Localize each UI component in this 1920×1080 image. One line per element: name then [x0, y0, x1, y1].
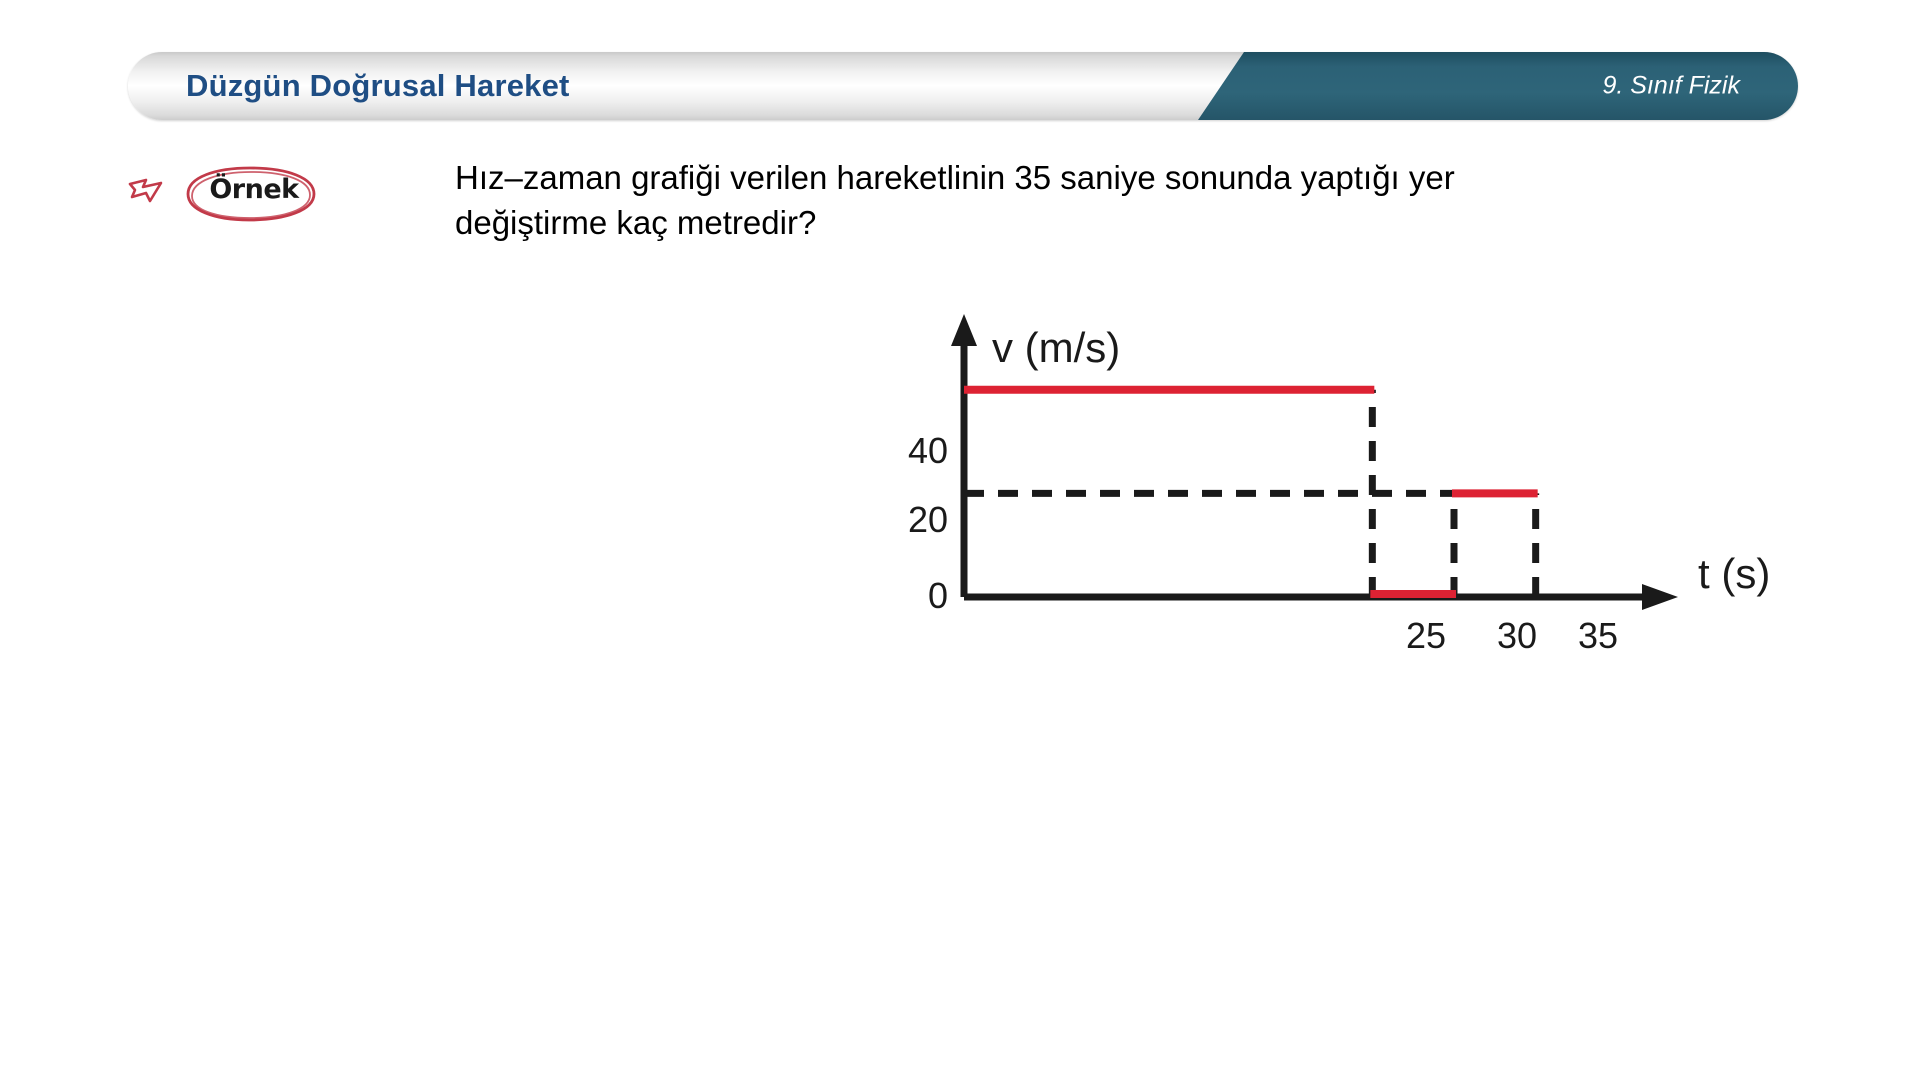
- y-tick-labels: 40 20 0: [908, 430, 948, 616]
- hand-drawn-arrow-icon: [130, 180, 161, 201]
- question-line-2: değiştirme kaç metredir?: [455, 201, 1825, 246]
- slide-page: Düzgün Doğrusal Hareket 9. Sınıf Fizik Ö…: [0, 0, 1920, 1080]
- header-banner: Düzgün Doğrusal Hareket 9. Sınıf Fizik: [128, 52, 1798, 120]
- x-tick-label-25: 25: [1406, 615, 1446, 656]
- example-badge: Örnek: [128, 160, 338, 232]
- example-badge-label: Örnek: [194, 174, 314, 205]
- y-tick-label-40: 40: [908, 430, 948, 471]
- x-tick-labels: 25 30 35: [1406, 615, 1618, 656]
- x-axis-label: t (s): [1698, 550, 1770, 597]
- x-tick-label-35: 35: [1578, 615, 1618, 656]
- y-tick-label-0: 0: [928, 575, 948, 616]
- velocity-time-chart: v (m/s) t (s) 40 20 0 25 30 35: [880, 300, 1880, 660]
- chart-guide-lines: [964, 390, 1536, 597]
- question-text: Hız–zaman grafiği verilen hareketlinin 3…: [455, 156, 1825, 245]
- x-tick-label-30: 30: [1497, 615, 1537, 656]
- y-axis-label: v (m/s): [992, 324, 1120, 371]
- subject-label: 9. Sınıf Fizik: [1602, 72, 1740, 101]
- y-tick-label-20: 20: [908, 499, 948, 540]
- page-title: Düzgün Doğrusal Hareket: [186, 68, 570, 104]
- question-line-1: Hız–zaman grafiği verilen hareketlinin 3…: [455, 156, 1825, 201]
